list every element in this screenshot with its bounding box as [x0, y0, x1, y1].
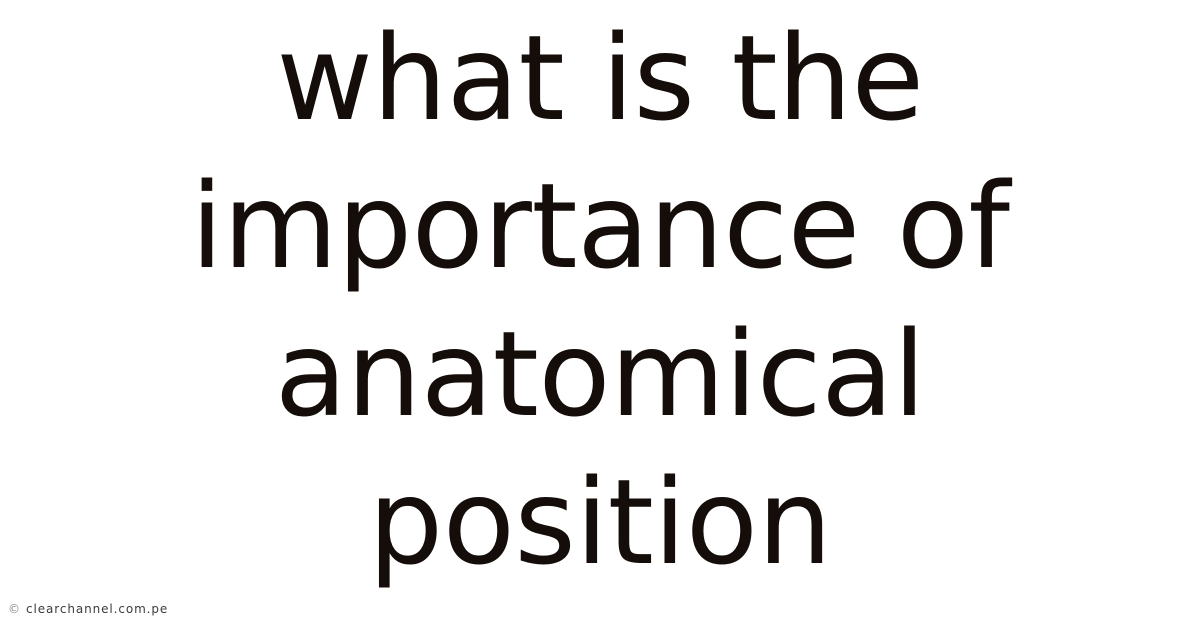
copyright-icon: ©: [8, 603, 20, 616]
headline-block: what is the importance of anatomical pos…: [0, 0, 1200, 592]
headline-line-4: position: [0, 448, 1200, 596]
headline-line-2: importance of: [0, 152, 1200, 300]
attribution-site-label: clearchannel.com.pe: [26, 603, 168, 616]
poster-canvas: what is the importance of anatomical pos…: [0, 0, 1200, 628]
headline-line-1: what is the: [0, 4, 1200, 152]
attribution-footer: © clearchannel.com.pe: [8, 603, 168, 616]
headline-line-3: anatomical: [0, 300, 1200, 448]
